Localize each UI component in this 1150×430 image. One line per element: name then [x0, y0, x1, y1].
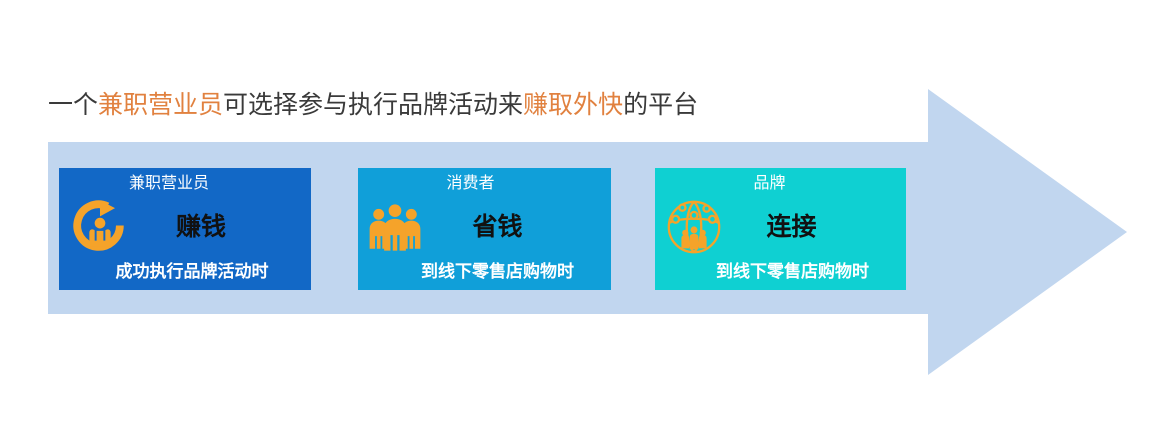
card-title: 兼职营业员: [59, 174, 311, 194]
person-refresh-icon: [69, 196, 131, 258]
card-consumer[interactable]: 消费者 省钱 到线下零售店购物时: [358, 168, 611, 290]
people-group-icon: [366, 198, 424, 256]
card-footer: 成功执行品牌活动时: [59, 261, 311, 283]
card-title: 品牌: [655, 174, 906, 194]
headline-segment-2: 可选择参与执行品牌活动来: [223, 92, 523, 119]
card-footer: 到线下零售店购物时: [358, 261, 611, 283]
headline-segment-4: 的平台: [623, 92, 698, 119]
globe-network-people-icon: [663, 196, 725, 258]
card-title: 消费者: [358, 174, 611, 194]
page-title: 一个兼职营业员可选择参与执行品牌活动来赚取外快的平台: [48, 89, 698, 123]
card-part-time-clerk[interactable]: 兼职营业员 赚钱 成功执行品牌活动时: [59, 168, 311, 290]
headline-segment-0: 一个: [48, 92, 98, 119]
diagram-canvas: 一个兼职营业员可选择参与执行品牌活动来赚取外快的平台 兼职营业员 赚钱 成功执行…: [0, 0, 1150, 430]
card-footer: 到线下零售店购物时: [655, 261, 906, 283]
card-brand[interactable]: 品牌 连接 到线下零售店购物时: [655, 168, 906, 290]
headline-segment-1-highlight: 兼职营业员: [98, 92, 223, 119]
headline-segment-3-highlight: 赚取外快: [523, 92, 623, 119]
